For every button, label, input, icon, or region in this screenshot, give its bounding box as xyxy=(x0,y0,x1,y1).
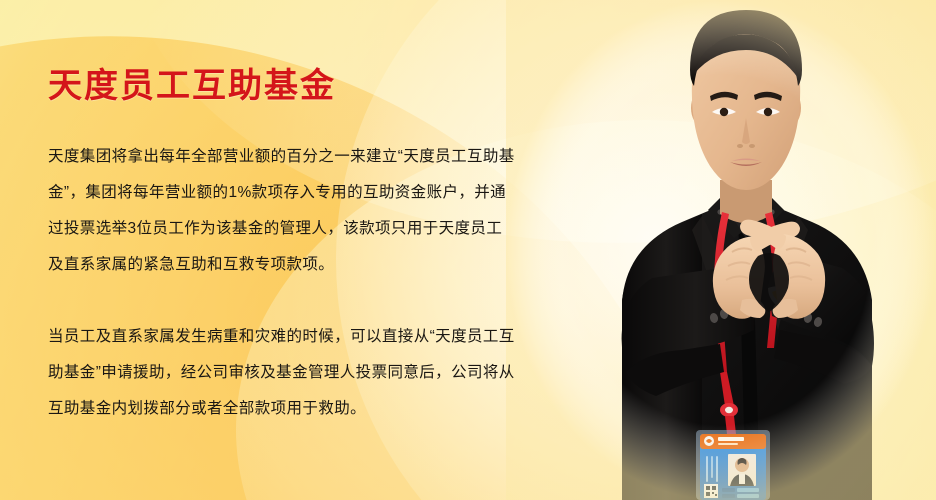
body-paragraph-1: 天度集团将拿出每年全部营业额的百分之一来建立“天度员工互助基金”，集团将每年营业… xyxy=(48,105,518,283)
copy-column: 天度员工互助基金 天度集团将拿出每年全部营业额的百分之一来建立“天度员工互助基金… xyxy=(48,0,548,427)
employee-photo xyxy=(506,0,936,500)
body-paragraph-2: 当员工及直系家属发生病重和灾难的时候，可以直接从“天度员工互助基金”申请援助，经… xyxy=(48,283,518,427)
page-title: 天度员工互助基金 xyxy=(48,0,548,105)
promo-banner: 天度员工互助基金 天度集团将拿出每年全部营业额的百分之一来建立“天度员工互助基金… xyxy=(0,0,936,500)
